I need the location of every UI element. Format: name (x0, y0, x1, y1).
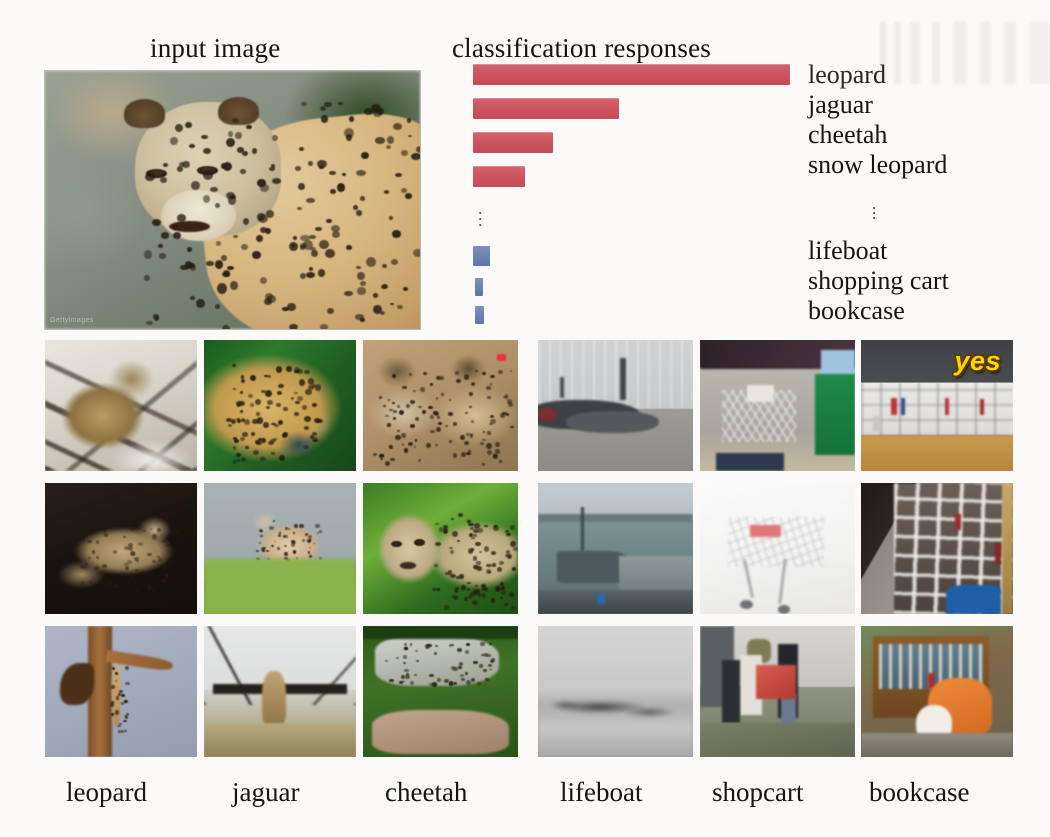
texture-spot (115, 672, 119, 675)
texture-spot (360, 196, 365, 201)
texture-spot (385, 415, 389, 418)
texture-spot (346, 245, 353, 250)
texture-spot (326, 219, 331, 223)
thumb-cheetah-face-green (363, 483, 518, 614)
caption-jaguar: jaguar (232, 777, 299, 808)
texture-spot (134, 589, 138, 592)
texture-spot (491, 658, 495, 662)
texture-spot (449, 547, 453, 550)
texture-spot (135, 569, 139, 572)
texture-spot (466, 643, 470, 646)
texture-spot (203, 148, 211, 154)
texture-spot (131, 552, 136, 556)
texture-spot (423, 372, 427, 375)
texture-spot (298, 183, 305, 190)
texture-spot (170, 137, 178, 145)
thumb-cheetahs-on-sand (363, 340, 518, 471)
texture-spot (389, 679, 394, 682)
texture-spot (487, 450, 492, 455)
texture-spot (260, 530, 263, 532)
texture-spot (125, 566, 129, 570)
texture-spot (147, 585, 152, 590)
texture-spot (357, 287, 367, 295)
texture-spot (495, 442, 500, 448)
texture-spot (469, 392, 473, 396)
texture-spot (510, 370, 513, 372)
texture-spot (473, 534, 477, 537)
texture-spot (413, 249, 420, 257)
texture-spot (475, 585, 478, 587)
texture-spot (203, 170, 213, 179)
texture-spot (112, 667, 115, 670)
texture-spot (308, 535, 312, 539)
texture-spot (215, 260, 224, 269)
texture-spot (508, 402, 513, 408)
texture-spot (461, 452, 466, 457)
texture-spot (274, 541, 276, 542)
thumb-tall-bookshelves-room (861, 483, 1013, 614)
texture-spot (117, 725, 120, 727)
texture-spot (482, 439, 486, 442)
texture-spot (121, 573, 126, 577)
texture-spot (387, 136, 395, 144)
texture-spot (240, 169, 245, 173)
texture-spot (489, 643, 492, 645)
texture-spot (435, 542, 441, 547)
texture-spot (96, 540, 100, 543)
caption-cheetah: cheetah (385, 777, 467, 808)
texture-spot (451, 518, 454, 520)
texture-spot (272, 178, 281, 184)
texture-spot (111, 713, 115, 716)
texture-spot (277, 547, 281, 550)
photo-watermark: Gettylmages (50, 317, 94, 324)
texture-spot (266, 550, 269, 552)
texture-spot (437, 678, 441, 682)
texture-spot (256, 235, 263, 242)
texture-spot (467, 582, 470, 584)
texture-spot (232, 118, 239, 124)
texture-spot (430, 383, 434, 386)
texture-spot (482, 463, 485, 466)
response-labels-bottom: lifeboat shopping cart bookcase (808, 236, 949, 326)
texture-spot (450, 550, 454, 554)
texture-spot (330, 189, 336, 193)
texture-spot (481, 593, 486, 598)
thumb-person-at-bookcase-orange (861, 626, 1013, 757)
texture-spot (473, 529, 478, 533)
texture-spot (126, 713, 129, 716)
texture-spot (506, 413, 509, 416)
response-label-lifeboat: lifeboat (808, 236, 949, 266)
texture-spot (332, 231, 340, 237)
texture-spot (344, 128, 354, 138)
texture-spot (320, 324, 328, 329)
texture-spot (416, 146, 420, 153)
texture-spot (401, 675, 405, 679)
texture-spot (215, 304, 221, 309)
texture-spot (415, 417, 419, 421)
texture-spot (150, 528, 153, 530)
texture-spot (384, 190, 389, 194)
texture-spot (221, 255, 227, 261)
texture-spot (357, 272, 366, 281)
texture-spot (472, 600, 478, 604)
caption-shopcart: shopcart (712, 777, 803, 808)
texture-spot (315, 524, 319, 528)
texture-spot (92, 550, 96, 554)
texture-spot (246, 125, 252, 130)
texture-spot (233, 235, 238, 238)
texture-spot (512, 567, 516, 571)
texture-spot (388, 399, 391, 401)
texture-spot (480, 442, 484, 445)
texture-spot (491, 551, 496, 555)
response-label-snow-leopard: snow leopard (808, 150, 947, 180)
texture-spot (444, 605, 449, 610)
texture-spot (499, 561, 504, 566)
texture-spot (260, 277, 267, 284)
texture-spot (278, 534, 281, 537)
texture-spot (480, 642, 484, 646)
thumb-people-with-red-cart (700, 626, 855, 757)
texture-spot (318, 269, 325, 276)
thumb-leopard-tail-on-tree (45, 626, 197, 757)
bar-jaguar (473, 98, 619, 119)
texture-spot (308, 161, 313, 166)
texture-spot (160, 177, 167, 183)
texture-spot (177, 214, 186, 222)
texture-spot (215, 203, 220, 208)
texture-spot (144, 275, 151, 280)
texture-spot (453, 453, 458, 458)
texture-spot (356, 266, 361, 269)
labels-break-ellipsis: ... (872, 201, 876, 216)
thumb-grayscale-boat-at-sea (538, 626, 693, 757)
texture-spot (466, 452, 471, 455)
texture-spot (434, 652, 438, 655)
texture-spot (319, 530, 322, 533)
texture-spot (401, 188, 407, 193)
texture-spot (410, 643, 413, 646)
texture-spot (163, 163, 168, 167)
texture-spot (301, 102, 307, 106)
texture-spot (172, 548, 176, 552)
input-image-title: input image (150, 33, 280, 64)
texture-spot (395, 435, 400, 440)
texture-spot (482, 372, 486, 375)
texture-spot (505, 530, 509, 533)
texture-spot (401, 150, 408, 156)
texture-spot (380, 454, 384, 457)
texture-spot (385, 660, 388, 663)
texture-spot (264, 298, 272, 306)
texture-spot (129, 573, 134, 578)
texture-spot (159, 253, 167, 259)
texture-spot (158, 244, 164, 248)
texture-spot (471, 548, 475, 551)
input-image-photo: Gettylmages (45, 71, 420, 329)
texture-spot (407, 118, 411, 122)
texture-spot (402, 443, 405, 446)
texture-spot (257, 213, 264, 221)
texture-spot (260, 184, 269, 191)
texture-spot (382, 284, 388, 289)
texture-spot (173, 232, 181, 239)
texture-spot (361, 152, 369, 159)
texture-spot (443, 528, 449, 533)
texture-spot (433, 411, 437, 415)
texture-spot (451, 644, 454, 646)
texture-spot (309, 555, 312, 558)
texture-spot (500, 413, 505, 418)
texture-spot (121, 694, 125, 697)
texture-spot (488, 664, 492, 667)
texture-spot (131, 528, 134, 531)
texture-spot (299, 524, 303, 528)
texture-spot (478, 593, 482, 596)
texture-spot (392, 230, 402, 238)
texture-spot (449, 399, 452, 401)
texture-spot (252, 148, 257, 154)
texture-spot (426, 443, 431, 448)
texture-spot (397, 305, 403, 309)
texture-spot (289, 324, 299, 329)
texture-spot (321, 115, 328, 122)
texture-spot (284, 545, 287, 547)
texture-spot (325, 249, 335, 257)
texture-spot (492, 563, 496, 567)
texture-spot (510, 541, 516, 547)
texture-spot (291, 542, 295, 546)
texture-spot (299, 147, 304, 151)
texture-spot (487, 654, 491, 657)
texture-spot (479, 551, 482, 554)
texture-spot (111, 685, 115, 689)
thumb-jaguar-in-bare-tree (204, 626, 356, 757)
texture-spot (119, 723, 122, 725)
texture-spot (241, 244, 248, 250)
texture-spot (252, 251, 260, 259)
texture-spot (119, 690, 123, 693)
texture-spot (459, 662, 463, 666)
texture-spot (395, 173, 403, 178)
classification-bar-chart: ... (473, 60, 803, 320)
texture-spot (313, 543, 316, 545)
texture-spot (449, 682, 453, 686)
texture-spot (483, 431, 486, 433)
texture-spot (437, 588, 440, 590)
texture-spot (329, 171, 336, 175)
texture-spot (235, 132, 242, 138)
texture-spot (242, 151, 247, 156)
texture-spot (144, 250, 153, 260)
texture-spot (177, 166, 183, 172)
texture-spot (467, 588, 470, 591)
texture-spot (441, 393, 444, 396)
texture-spot (453, 682, 457, 685)
texture-spot (87, 540, 91, 543)
texture-spot (414, 446, 417, 448)
texture-spot (513, 547, 518, 551)
texture-spot (104, 533, 108, 537)
caption-bookcase: bookcase (869, 777, 969, 808)
texture-spot (410, 400, 415, 404)
texture-spot (477, 682, 481, 685)
texture-spot (165, 574, 169, 578)
texture-spot (375, 137, 385, 143)
texture-spot (356, 210, 362, 215)
texture-spot (385, 461, 390, 466)
texture-spot (476, 561, 482, 565)
thumb-jaguar-cub-in-grass (204, 483, 356, 614)
texture-spot (124, 700, 128, 703)
texture-spot (390, 303, 394, 306)
texture-spot (435, 523, 439, 525)
texture-spot (415, 439, 418, 442)
texture-spot (355, 314, 364, 319)
texture-spot (428, 406, 433, 410)
texture-spot (392, 402, 395, 404)
texture-spot (489, 423, 493, 425)
texture-spot (175, 124, 183, 132)
texture-spot (408, 135, 412, 138)
texture-spot (469, 406, 472, 408)
thumb-harbour-boats (538, 483, 693, 614)
yes-overlay-label: yes (954, 346, 1001, 377)
texture-spot (500, 597, 503, 599)
texture-spot (349, 116, 354, 121)
texture-spot (501, 590, 507, 595)
texture-spot (422, 410, 426, 414)
texture-spot (113, 550, 117, 553)
texture-spot (157, 528, 161, 532)
texture-spot (366, 257, 376, 267)
texture-spot (383, 405, 386, 408)
texture-spot (324, 102, 332, 107)
texture-spot (382, 264, 387, 268)
texture-spot (506, 533, 511, 536)
texture-spot (393, 123, 402, 130)
texture-spot (485, 678, 489, 682)
texture-spot (410, 681, 414, 685)
texture-spot (414, 674, 417, 676)
texture-spot (163, 566, 166, 568)
response-label-bookcase: bookcase (808, 296, 949, 326)
texture-spot (393, 417, 397, 420)
texture-spot (167, 549, 171, 552)
texture-spot (403, 287, 408, 292)
texture-spot (429, 674, 434, 677)
texture-spot (405, 193, 412, 198)
texture-spot (145, 173, 154, 181)
texture-spot (94, 566, 99, 570)
texture-spot (408, 442, 413, 446)
texture-spot (297, 207, 302, 210)
texture-spot (311, 250, 318, 257)
texture-spot (146, 321, 153, 326)
texture-spot (315, 227, 322, 231)
texture-spot (356, 170, 366, 176)
texture-spot (162, 578, 167, 582)
texture-spot (138, 542, 143, 545)
texture-spot (475, 542, 480, 546)
texture-spot (191, 181, 199, 190)
texture-spot (430, 430, 435, 433)
texture-spot (319, 240, 328, 249)
texture-spot (158, 558, 162, 562)
texture-spot (210, 187, 218, 192)
caption-lifeboat: lifeboat (560, 777, 642, 808)
texture-spot (171, 553, 176, 557)
texture-spot (432, 588, 437, 591)
texture-spot (484, 546, 489, 551)
texture-spot (406, 673, 409, 676)
texture-spot (389, 445, 393, 449)
texture-spot (445, 425, 448, 428)
texture-spot (173, 225, 177, 229)
texture-spot (490, 383, 493, 386)
texture-spot (489, 669, 492, 671)
bar-shopping-cart (475, 278, 483, 296)
texture-spot (121, 702, 124, 705)
texture-spot (461, 678, 465, 681)
texture-spot (294, 524, 298, 528)
texture-spot (401, 433, 406, 438)
texture-spot (396, 657, 400, 660)
texture-spot (427, 644, 431, 647)
texture-spot (96, 556, 99, 558)
texture-spot (226, 138, 235, 147)
texture-spot (260, 535, 263, 537)
texture-spot (80, 581, 85, 586)
texture-spot (337, 183, 345, 192)
texture-spot (453, 422, 458, 426)
response-label-cheetah: cheetah (808, 120, 947, 150)
texture-spot (491, 375, 495, 378)
texture-spot (124, 730, 127, 733)
texture-spot (162, 540, 165, 542)
texture-spot (179, 162, 184, 167)
texture-spot (175, 530, 180, 533)
texture-spot (455, 590, 459, 593)
texture-spot (116, 696, 120, 699)
texture-spot (379, 396, 382, 399)
texture-spot (227, 266, 234, 270)
texture-spot (486, 569, 491, 574)
texture-spot (484, 525, 488, 528)
texture-spot (448, 412, 453, 416)
bar-lifeboat (473, 246, 490, 266)
texture-spot (397, 405, 400, 408)
texture-spot (465, 672, 468, 675)
texture-spot (491, 598, 495, 603)
texture-spot (243, 218, 249, 225)
texture-spot (185, 122, 192, 128)
texture-spot (497, 567, 502, 572)
texture-spot (436, 397, 439, 400)
texture-spot (430, 415, 434, 419)
texture-spot (295, 166, 300, 170)
texture-spot (309, 235, 316, 239)
texture-spot (259, 542, 261, 544)
texture-spot (465, 650, 469, 654)
texture-spot (434, 684, 437, 687)
bar-bookcase (475, 306, 484, 324)
texture-spot (189, 144, 195, 148)
texture-spot (285, 535, 288, 538)
texture-spot (271, 545, 274, 547)
